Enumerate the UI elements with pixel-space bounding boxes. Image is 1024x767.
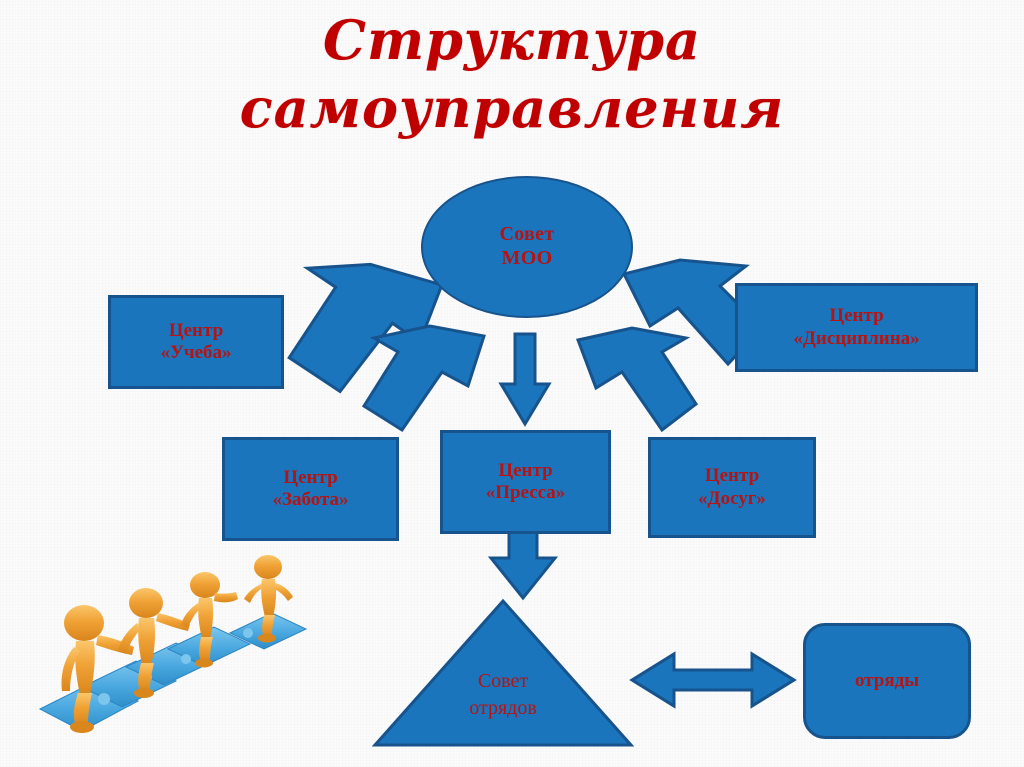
node-center-pressa-line2: «Пресса» [486,482,566,503]
slide-canvas: Структура самоуправления [0,0,1024,767]
node-center-disciplina-line2: «Дисциплина» [793,328,919,349]
arrow-moo-to-zabota [352,318,492,444]
node-center-dosug-line1: Центр [705,465,759,486]
node-center-zabota[interactable]: Центр «Забота» [222,437,399,541]
title-line-1: Структура [0,6,1024,74]
node-center-pressa[interactable]: Центр «Пресса» [440,430,611,534]
node-center-zabota-line2: «Забота» [272,489,348,510]
triangle-shape [372,598,634,748]
arrow-pressa-to-sovet-otryadov [487,528,559,608]
node-center-ucheba-line1: Центр [169,320,223,341]
node-sovet-moo[interactable]: Совет МОО [421,176,633,318]
node-center-dosug-line2: «Досуг» [698,488,766,509]
arrow-moo-to-dosug [572,320,702,442]
arrow-sovet-otryadov-to-otryady [630,650,798,712]
node-sovet-moo-line2: МОО [502,247,553,269]
node-center-ucheba[interactable]: Центр «Учеба» [108,295,284,389]
people-puzzle-clipart [34,541,330,736]
node-center-disciplina[interactable]: Центр «Дисциплина» [735,283,978,372]
people-puzzle-illustration [34,541,330,736]
title-line-2: самоуправления [0,74,1024,142]
node-center-ucheba-line2: «Учеба» [160,342,231,363]
node-sovet-otryadov[interactable]: Совет отрядов [372,598,634,748]
node-center-dosug[interactable]: Центр «Досуг» [648,437,816,538]
node-center-disciplina-line1: Центр [829,305,883,326]
node-otryady-label: отряды [855,670,919,692]
node-otryady[interactable]: отряды [803,623,971,739]
node-center-pressa-line1: Центр [498,460,552,481]
node-center-zabota-line1: Центр [283,467,337,488]
arrow-moo-to-pressa [497,332,553,432]
node-sovet-moo-line1: Совет [500,223,555,245]
slide-title: Структура самоуправления [0,6,1024,142]
